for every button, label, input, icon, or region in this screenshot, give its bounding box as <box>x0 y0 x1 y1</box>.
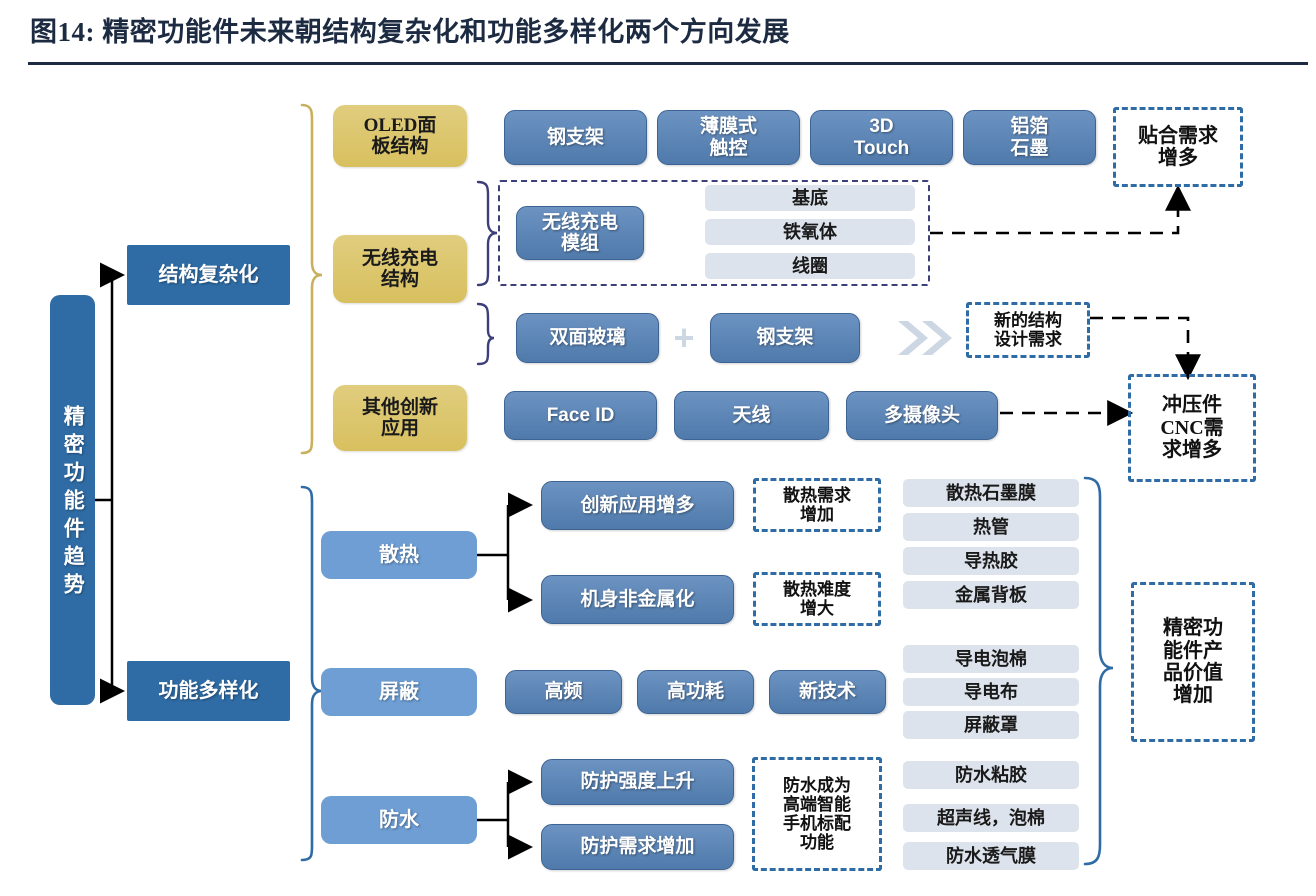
heat-driver-0[interactable]: 创新应用增多 <box>541 481 734 530</box>
heat-product-3: 金属背板 <box>903 581 1079 609</box>
shielding-driver-2[interactable]: 新技术 <box>769 670 886 714</box>
heat-driver-1[interactable]: 机身非金属化 <box>541 575 734 624</box>
callout-stamping-cnc-demand: 冲压件 CNC需 求增多 <box>1128 374 1256 482</box>
glass-item-right[interactable]: 钢支架 <box>710 313 860 363</box>
branch-function-diversity[interactable]: 功能多样化 <box>127 661 290 721</box>
waterproof-product-0: 防水粘胶 <box>903 761 1079 789</box>
shielding-product-1: 导电布 <box>903 678 1079 706</box>
diagram-canvas: 精密功能件趋势 结构复杂化 功能多样化 OLED面 板结构 无线充电 结构 其他… <box>0 0 1316 896</box>
shielding-driver-1[interactable]: 高功耗 <box>637 670 754 714</box>
oled-item-1[interactable]: 薄膜式 触控 <box>657 110 800 165</box>
callout-waterproof-standard: 防水成为 高端智能 手机标配 功能 <box>752 757 882 871</box>
wireless-layer-1: 铁氧体 <box>705 219 915 245</box>
category-wireless-charging[interactable]: 无线充电 结构 <box>333 235 467 303</box>
branch-structure-complexity[interactable]: 结构复杂化 <box>127 245 290 305</box>
callout-value-increase: 精密功 能件产 品价值 增加 <box>1131 582 1255 742</box>
other-app-0[interactable]: Face ID <box>504 391 657 440</box>
chevron-arrows-icon <box>898 321 952 355</box>
wireless-module[interactable]: 无线充电 模组 <box>516 206 644 260</box>
heat-product-0: 散热石墨膜 <box>903 479 1079 507</box>
heat-product-1: 热管 <box>903 513 1079 541</box>
callout-heat-demand: 散热需求 增加 <box>753 478 881 532</box>
callout-heat-difficulty: 散热难度 增大 <box>753 572 881 626</box>
heat-product-2: 导热胶 <box>903 547 1079 575</box>
function-group-waterproof[interactable]: 防水 <box>321 796 477 844</box>
wireless-layer-2: 线圈 <box>705 253 915 279</box>
category-oled-panel[interactable]: OLED面 板结构 <box>333 105 467 167</box>
shielding-driver-0[interactable]: 高频 <box>505 670 622 714</box>
wireless-layer-0: 基底 <box>705 185 915 211</box>
waterproof-driver-1[interactable]: 防护需求增加 <box>541 824 734 870</box>
oled-item-0[interactable]: 钢支架 <box>504 110 647 165</box>
shielding-product-2: 屏蔽罩 <box>903 711 1079 739</box>
callout-new-structure-design: 新的结构 设计需求 <box>966 302 1090 358</box>
waterproof-product-2: 防水透气膜 <box>903 842 1079 870</box>
waterproof-product-1: 超声线，泡棉 <box>903 804 1079 832</box>
root-node[interactable]: 精密功能件趋势 <box>50 295 95 705</box>
other-app-2[interactable]: 多摄像头 <box>846 391 998 440</box>
waterproof-driver-0[interactable]: 防护强度上升 <box>541 759 734 805</box>
other-app-1[interactable]: 天线 <box>674 391 829 440</box>
function-group-heat[interactable]: 散热 <box>321 531 477 579</box>
plus-icon: + <box>668 313 700 363</box>
oled-item-2[interactable]: 3D Touch <box>810 110 953 165</box>
callout-lamination-demand: 贴合需求 增多 <box>1113 107 1243 187</box>
oled-item-3[interactable]: 铝箔 石墨 <box>963 110 1096 165</box>
glass-item-left[interactable]: 双面玻璃 <box>516 313 659 363</box>
function-group-shielding[interactable]: 屏蔽 <box>321 668 477 716</box>
category-other-innovation[interactable]: 其他创新 应用 <box>333 385 467 451</box>
shielding-product-0: 导电泡棉 <box>903 645 1079 673</box>
